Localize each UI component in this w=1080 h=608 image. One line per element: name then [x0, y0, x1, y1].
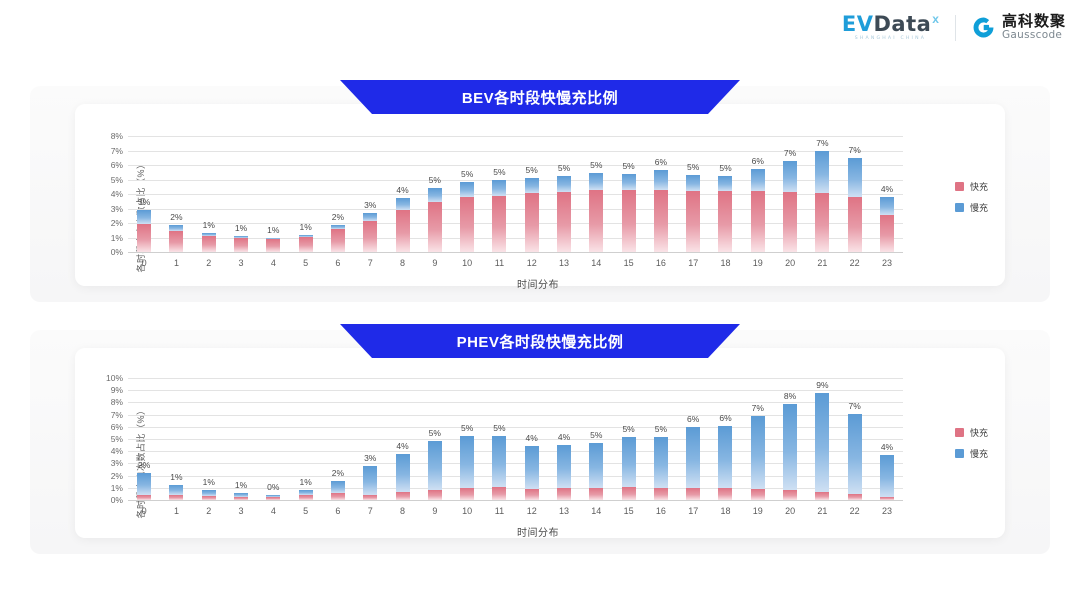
phev-x-axis: 01234567891011121314151617181920212223 — [128, 506, 903, 516]
phev-x-axis-label: 时间分布 — [88, 524, 988, 539]
bar-group[interactable]: 9% — [806, 378, 838, 500]
evdata-x-icon: x — [932, 13, 939, 25]
bar-segment-fast-charge[interactable] — [428, 490, 442, 500]
bar-stack[interactable] — [266, 136, 280, 252]
bar-stack[interactable] — [589, 136, 603, 252]
gridline — [128, 252, 903, 253]
x-axis-tick: 9 — [419, 506, 451, 516]
bar-group[interactable]: 5% — [612, 136, 644, 252]
phev-chart-title-banner: PHEV各时段快慢充比例 — [340, 324, 740, 358]
bar-segment-slow-charge[interactable] — [331, 481, 345, 493]
x-axis-tick: 9 — [419, 258, 451, 268]
bar-segment-fast-charge[interactable] — [783, 192, 797, 252]
bar-segment-slow-charge[interactable] — [783, 161, 797, 191]
bar-segment-slow-charge[interactable] — [751, 416, 765, 489]
bar-value-label: 5% — [526, 165, 538, 175]
bar-segment-fast-charge[interactable] — [654, 488, 668, 500]
bar-stack[interactable] — [654, 136, 668, 252]
bar-group[interactable]: 2% — [160, 136, 192, 252]
bar-stack[interactable] — [363, 136, 377, 252]
bar-stack[interactable] — [815, 136, 829, 252]
bar-segment-slow-charge[interactable] — [848, 158, 862, 197]
x-axis-tick: 13 — [548, 506, 580, 516]
bar-value-label: 1% — [299, 222, 311, 232]
legend-label: 慢充 — [970, 201, 988, 214]
bar-segment-slow-charge[interactable] — [525, 446, 539, 489]
bar-group[interactable]: 5% — [709, 136, 741, 252]
bar-stack[interactable] — [686, 136, 700, 252]
bar-segment-fast-charge[interactable] — [686, 488, 700, 500]
bar-segment-fast-charge[interactable] — [299, 495, 313, 500]
x-axis-tick: 8 — [386, 506, 418, 516]
bar-segment-fast-charge[interactable] — [783, 490, 797, 500]
bar-segment-slow-charge[interactable] — [589, 443, 603, 489]
bar-value-label: 6% — [655, 157, 667, 167]
bar-value-label: 1% — [170, 472, 182, 482]
bar-group[interactable]: 1% — [193, 136, 225, 252]
bar-group[interactable]: 5% — [419, 136, 451, 252]
bar-group[interactable]: 5% — [580, 378, 612, 500]
x-axis-tick: 3 — [225, 506, 257, 516]
bar-segment-slow-charge[interactable] — [137, 210, 151, 224]
bev-bars: 3%2%1%1%1%1%2%3%4%5%5%5%5%5%5%5%6%5%5%6%… — [128, 136, 903, 252]
bar-segment-fast-charge[interactable] — [622, 190, 636, 252]
x-axis-tick: 21 — [806, 506, 838, 516]
phev-chart: 各时段充电次数占比（%） 0%1%2%3%4%5%6%7%8%9%10% 2%1… — [88, 378, 988, 546]
bar-stack[interactable] — [718, 378, 732, 500]
bar-group[interactable]: 6% — [677, 378, 709, 500]
bar-stack[interactable] — [622, 136, 636, 252]
bar-segment-fast-charge[interactable] — [751, 191, 765, 252]
bar-segment-fast-charge[interactable] — [137, 224, 151, 252]
bar-segment-slow-charge[interactable] — [460, 436, 474, 488]
bar-group[interactable]: 3% — [354, 378, 386, 500]
bar-segment-slow-charge[interactable] — [686, 175, 700, 191]
bar-stack[interactable] — [331, 136, 345, 252]
legend-label: 快充 — [970, 180, 988, 193]
bar-segment-slow-charge[interactable] — [686, 427, 700, 488]
bar-value-label: 6% — [752, 156, 764, 166]
legend-item[interactable]: 慢充 — [955, 201, 988, 214]
legend-item[interactable]: 快充 — [955, 426, 988, 439]
bar-segment-fast-charge[interactable] — [589, 190, 603, 252]
bar-group[interactable]: 7% — [839, 136, 871, 252]
bar-segment-fast-charge[interactable] — [880, 497, 894, 500]
bar-value-label: 4% — [881, 184, 893, 194]
bar-group[interactable]: 5% — [548, 136, 580, 252]
bar-stack[interactable] — [718, 136, 732, 252]
bar-segment-fast-charge[interactable] — [428, 202, 442, 252]
bar-group[interactable]: 5% — [451, 136, 483, 252]
bar-group[interactable]: 4% — [871, 136, 903, 252]
y-axis-tick: 9% — [111, 385, 123, 395]
bar-group[interactable]: 6% — [742, 136, 774, 252]
evdata-letter-e: E — [842, 14, 857, 35]
y-axis-tick: 1% — [111, 483, 123, 493]
bar-segment-fast-charge[interactable] — [299, 237, 313, 252]
bar-group[interactable]: 5% — [677, 136, 709, 252]
bar-segment-slow-charge[interactable] — [525, 178, 539, 194]
gausscode-logo: 高科数聚 Gausscode — [972, 14, 1066, 41]
bar-segment-fast-charge[interactable] — [686, 191, 700, 252]
bar-stack[interactable] — [234, 136, 248, 252]
bar-value-label: 4% — [526, 433, 538, 443]
slide-page: E V Data x SHANGHAI CHINA 高科数聚 Gausscode… — [0, 0, 1080, 608]
bar-segment-fast-charge[interactable] — [460, 197, 474, 252]
gausscode-cn-name: 高科数聚 — [1002, 14, 1066, 30]
bar-value-label: 5% — [687, 162, 699, 172]
bar-segment-fast-charge[interactable] — [331, 493, 345, 500]
x-axis-tick: 20 — [774, 258, 806, 268]
bar-segment-slow-charge[interactable] — [363, 466, 377, 494]
x-axis-tick: 6 — [322, 258, 354, 268]
x-axis-tick: 22 — [839, 506, 871, 516]
bar-value-label: 7% — [752, 403, 764, 413]
bar-value-label: 6% — [719, 413, 731, 423]
bar-stack[interactable] — [331, 378, 345, 500]
bar-segment-fast-charge[interactable] — [363, 221, 377, 252]
x-axis-tick: 19 — [742, 506, 774, 516]
bar-segment-slow-charge[interactable] — [363, 213, 377, 220]
bar-value-label: 1% — [203, 220, 215, 230]
bar-value-label: 1% — [235, 480, 247, 490]
bar-segment-fast-charge[interactable] — [363, 495, 377, 500]
bar-stack[interactable] — [815, 378, 829, 500]
x-axis-tick: 17 — [677, 258, 709, 268]
y-axis-tick: 5% — [111, 175, 123, 185]
bar-segment-fast-charge[interactable] — [557, 192, 571, 252]
bar-segment-slow-charge[interactable] — [396, 198, 410, 210]
gausscode-en-name: Gausscode — [1002, 30, 1066, 41]
legend-item[interactable]: 慢充 — [955, 447, 988, 460]
bar-group[interactable]: 5% — [419, 378, 451, 500]
bar-segment-fast-charge[interactable] — [460, 488, 474, 500]
bar-segment-fast-charge[interactable] — [266, 239, 280, 252]
y-axis-tick: 2% — [111, 218, 123, 228]
bar-group[interactable]: 7% — [774, 136, 806, 252]
bar-segment-fast-charge[interactable] — [202, 496, 216, 500]
bar-segment-fast-charge[interactable] — [718, 191, 732, 252]
bar-segment-fast-charge[interactable] — [234, 497, 248, 500]
bar-segment-fast-charge[interactable] — [169, 495, 183, 500]
bar-value-label: 4% — [396, 185, 408, 195]
bar-value-label: 5% — [590, 160, 602, 170]
bar-group[interactable]: 5% — [451, 378, 483, 500]
bar-stack[interactable] — [622, 378, 636, 500]
legend-label: 慢充 — [970, 447, 988, 460]
bar-stack[interactable] — [299, 136, 313, 252]
y-axis-tick: 8% — [111, 397, 123, 407]
legend-swatch — [955, 449, 964, 458]
bar-segment-slow-charge[interactable] — [622, 174, 636, 191]
bar-group[interactable]: 7% — [839, 378, 871, 500]
bar-group[interactable]: 1% — [225, 378, 257, 500]
bar-group[interactable]: 0% — [257, 378, 289, 500]
bev-x-axis: 01234567891011121314151617181920212223 — [128, 258, 903, 268]
bar-group[interactable]: 8% — [774, 378, 806, 500]
bar-stack[interactable] — [202, 136, 216, 252]
bar-value-label: 4% — [881, 442, 893, 452]
x-axis-tick: 11 — [483, 506, 515, 516]
bar-group[interactable]: 2% — [128, 378, 160, 500]
x-axis-tick: 4 — [257, 258, 289, 268]
bar-value-label: 7% — [849, 401, 861, 411]
bar-value-label: 6% — [687, 414, 699, 424]
bar-group[interactable]: 4% — [386, 136, 418, 252]
bar-group[interactable]: 1% — [160, 378, 192, 500]
bar-stack[interactable] — [492, 378, 506, 500]
bar-group[interactable]: 2% — [322, 136, 354, 252]
x-axis-tick: 12 — [516, 258, 548, 268]
gridline — [128, 500, 903, 501]
phev-legend: 快充慢充 — [955, 426, 988, 460]
x-axis-tick: 12 — [516, 506, 548, 516]
bar-group[interactable]: 5% — [580, 136, 612, 252]
x-axis-tick: 16 — [645, 506, 677, 516]
bar-group[interactable]: 6% — [709, 378, 741, 500]
bar-segment-fast-charge[interactable] — [848, 197, 862, 252]
bar-value-label: 5% — [461, 423, 473, 433]
bar-value-label: 2% — [332, 468, 344, 478]
bev-plot-area: 0%1%2%3%4%5%6%7%8% 3%2%1%1%1%1%2%3%4%5%5… — [128, 136, 903, 252]
bar-group[interactable]: 5% — [516, 136, 548, 252]
x-axis-tick: 10 — [451, 506, 483, 516]
bar-value-label: 5% — [429, 428, 441, 438]
bar-group[interactable]: 7% — [742, 378, 774, 500]
bar-value-label: 4% — [558, 432, 570, 442]
bar-segment-slow-charge[interactable] — [654, 170, 668, 190]
bar-value-label: 1% — [203, 477, 215, 487]
bar-group[interactable]: 4% — [516, 378, 548, 500]
bar-group[interactable]: 7% — [806, 136, 838, 252]
x-axis-tick: 15 — [612, 258, 644, 268]
bar-stack[interactable] — [848, 378, 862, 500]
x-axis-tick: 0 — [128, 258, 160, 268]
phev-plot-area: 0%1%2%3%4%5%6%7%8%9%10% 2%1%1%1%0%1%2%3%… — [128, 378, 903, 500]
x-axis-tick: 3 — [225, 258, 257, 268]
bar-value-label: 3% — [364, 453, 376, 463]
evdata-logo: E V Data x SHANGHAI CHINA — [842, 14, 939, 42]
bar-group[interactable]: 4% — [871, 378, 903, 500]
x-axis-tick: 1 — [160, 506, 192, 516]
bar-stack[interactable] — [137, 378, 151, 500]
bar-stack[interactable] — [557, 136, 571, 252]
bar-segment-fast-charge[interactable] — [234, 238, 248, 252]
bar-segment-slow-charge[interactable] — [589, 173, 603, 190]
brand-logo-bar: E V Data x SHANGHAI CHINA 高科数聚 Gausscode — [842, 14, 1066, 42]
bar-group[interactable]: 1% — [289, 136, 321, 252]
bar-segment-fast-charge[interactable] — [331, 229, 345, 252]
bar-segment-slow-charge[interactable] — [654, 437, 668, 488]
legend-label: 快充 — [970, 426, 988, 439]
bar-value-label: 5% — [655, 424, 667, 434]
bar-segment-slow-charge[interactable] — [169, 485, 183, 495]
gausscode-text: 高科数聚 Gausscode — [1002, 14, 1066, 41]
bar-group[interactable]: 1% — [289, 378, 321, 500]
bar-value-label: 8% — [784, 391, 796, 401]
bar-segment-slow-charge[interactable] — [557, 445, 571, 489]
bar-group[interactable]: 3% — [354, 136, 386, 252]
bar-value-label: 5% — [461, 169, 473, 179]
bar-stack[interactable] — [751, 378, 765, 500]
bar-value-label: 7% — [849, 145, 861, 155]
bar-segment-slow-charge[interactable] — [428, 188, 442, 203]
x-axis-tick: 18 — [709, 258, 741, 268]
bar-segment-fast-charge[interactable] — [848, 494, 862, 500]
bar-value-label: 5% — [493, 167, 505, 177]
bar-group[interactable]: 4% — [548, 378, 580, 500]
x-axis-tick: 5 — [289, 506, 321, 516]
bar-segment-fast-charge[interactable] — [557, 488, 571, 500]
bar-group[interactable]: 1% — [257, 136, 289, 252]
x-axis-tick: 2 — [193, 258, 225, 268]
bar-segment-fast-charge[interactable] — [202, 236, 216, 252]
y-axis-tick: 2% — [111, 471, 123, 481]
bar-value-label: 5% — [429, 175, 441, 185]
bar-group[interactable]: 6% — [645, 136, 677, 252]
bar-stack[interactable] — [751, 136, 765, 252]
bar-value-label: 5% — [493, 423, 505, 433]
x-axis-tick: 18 — [709, 506, 741, 516]
bar-segment-fast-charge[interactable] — [169, 231, 183, 252]
bar-value-label: 3% — [364, 200, 376, 210]
bar-group[interactable]: 1% — [225, 136, 257, 252]
x-axis-tick: 20 — [774, 506, 806, 516]
bar-value-label: 5% — [558, 163, 570, 173]
bar-value-label: 7% — [784, 148, 796, 158]
bar-group[interactable]: 4% — [386, 378, 418, 500]
bar-segment-slow-charge[interactable] — [783, 404, 797, 490]
bar-stack[interactable] — [137, 136, 151, 252]
bar-segment-slow-charge[interactable] — [622, 437, 636, 487]
bar-segment-fast-charge[interactable] — [815, 492, 829, 500]
bar-segment-fast-charge[interactable] — [525, 489, 539, 500]
evdata-word-data: Data — [873, 14, 931, 35]
legend-swatch — [955, 428, 964, 437]
bar-segment-slow-charge[interactable] — [751, 169, 765, 191]
bar-value-label: 2% — [332, 212, 344, 222]
bar-value-label: 3% — [138, 197, 150, 207]
bar-segment-slow-charge[interactable] — [137, 473, 151, 495]
y-axis-tick: 6% — [111, 422, 123, 432]
bar-stack[interactable] — [492, 136, 506, 252]
bar-stack[interactable] — [396, 378, 410, 500]
bar-segment-slow-charge[interactable] — [396, 454, 410, 492]
bar-group[interactable]: 5% — [483, 378, 515, 500]
bar-segment-fast-charge[interactable] — [718, 488, 732, 500]
bar-stack[interactable] — [460, 378, 474, 500]
x-axis-tick: 16 — [645, 258, 677, 268]
y-axis-tick: 4% — [111, 189, 123, 199]
bar-value-label: 4% — [396, 441, 408, 451]
bar-segment-fast-charge[interactable] — [880, 215, 894, 252]
bar-segment-fast-charge[interactable] — [751, 489, 765, 500]
bar-group[interactable]: 1% — [193, 378, 225, 500]
bar-group[interactable]: 5% — [483, 136, 515, 252]
bar-stack[interactable] — [363, 378, 377, 500]
bar-segment-slow-charge[interactable] — [815, 393, 829, 493]
x-axis-tick: 5 — [289, 258, 321, 268]
bar-stack[interactable] — [880, 378, 894, 500]
bar-segment-slow-charge[interactable] — [815, 151, 829, 193]
y-axis-tick: 0% — [111, 247, 123, 257]
x-axis-tick: 7 — [354, 506, 386, 516]
bar-segment-fast-charge[interactable] — [654, 190, 668, 252]
bar-segment-slow-charge[interactable] — [718, 176, 732, 191]
x-axis-tick: 1 — [160, 258, 192, 268]
bar-stack[interactable] — [686, 378, 700, 500]
bar-segment-fast-charge[interactable] — [525, 193, 539, 252]
legend-swatch — [955, 182, 964, 191]
x-axis-tick: 2 — [193, 506, 225, 516]
bar-segment-fast-charge[interactable] — [492, 196, 506, 252]
bev-chart: 各时段充电次数占比（%） 0%1%2%3%4%5%6%7%8% 3%2%1%1%… — [88, 136, 988, 296]
bar-segment-fast-charge[interactable] — [492, 487, 506, 500]
bar-group[interactable]: 5% — [645, 378, 677, 500]
bar-stack[interactable] — [169, 136, 183, 252]
bar-stack[interactable] — [525, 136, 539, 252]
bar-stack[interactable] — [460, 136, 474, 252]
x-axis-tick: 11 — [483, 258, 515, 268]
x-axis-tick: 0 — [128, 506, 160, 516]
bar-segment-fast-charge[interactable] — [589, 488, 603, 500]
bar-value-label: 1% — [267, 225, 279, 235]
bar-segment-slow-charge[interactable] — [848, 414, 862, 494]
bar-segment-fast-charge[interactable] — [622, 487, 636, 500]
y-axis-tick: 6% — [111, 160, 123, 170]
x-axis-tick: 19 — [742, 258, 774, 268]
bar-value-label: 2% — [170, 212, 182, 222]
bar-segment-fast-charge[interactable] — [396, 492, 410, 500]
evdata-subtitle: SHANGHAI CHINA — [855, 37, 926, 42]
bar-stack[interactable] — [428, 378, 442, 500]
y-axis-tick: 8% — [111, 131, 123, 141]
bar-segment-fast-charge[interactable] — [137, 495, 151, 500]
bar-segment-slow-charge[interactable] — [460, 182, 474, 198]
bar-segment-fast-charge[interactable] — [266, 497, 280, 500]
y-axis-tick: 5% — [111, 434, 123, 444]
x-axis-tick: 17 — [677, 506, 709, 516]
bar-value-label: 1% — [299, 477, 311, 487]
x-axis-tick: 21 — [806, 258, 838, 268]
bar-value-label: 5% — [590, 430, 602, 440]
bar-group[interactable]: 3% — [128, 136, 160, 252]
bar-value-label: 5% — [622, 424, 634, 434]
bar-segment-slow-charge[interactable] — [428, 441, 442, 490]
bar-segment-slow-charge[interactable] — [557, 176, 571, 192]
bar-segment-fast-charge[interactable] — [815, 193, 829, 252]
phev-bars: 2%1%1%1%0%1%2%3%4%5%5%5%4%4%5%5%5%6%6%7%… — [128, 378, 903, 500]
legend-item[interactable]: 快充 — [955, 180, 988, 193]
bar-value-label: 5% — [622, 161, 634, 171]
bar-segment-fast-charge[interactable] — [396, 210, 410, 252]
y-axis-tick: 0% — [111, 495, 123, 505]
bar-stack[interactable] — [428, 136, 442, 252]
bar-segment-slow-charge[interactable] — [492, 436, 506, 487]
bar-segment-slow-charge[interactable] — [880, 197, 894, 215]
bar-segment-slow-charge[interactable] — [492, 180, 506, 196]
x-axis-tick: 4 — [257, 506, 289, 516]
bar-segment-slow-charge[interactable] — [718, 426, 732, 489]
bar-group[interactable]: 2% — [322, 378, 354, 500]
bev-x-axis-label: 时间分布 — [88, 276, 988, 291]
bar-segment-slow-charge[interactable] — [880, 455, 894, 497]
bar-stack[interactable] — [654, 378, 668, 500]
evdata-letter-v: V — [857, 14, 874, 35]
x-axis-tick: 10 — [451, 258, 483, 268]
x-axis-tick: 15 — [612, 506, 644, 516]
bar-group[interactable]: 5% — [612, 378, 644, 500]
